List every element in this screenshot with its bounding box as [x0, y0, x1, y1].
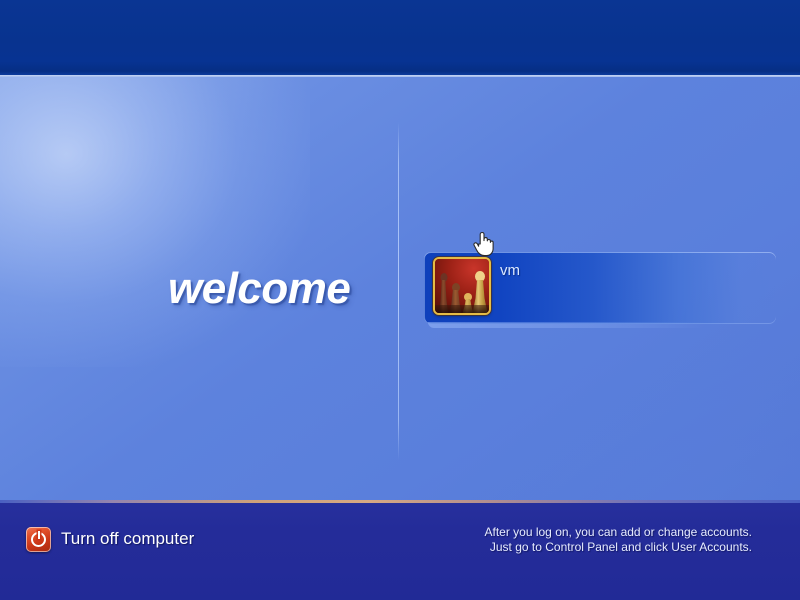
welcome-screen: welcome — [0, 0, 800, 600]
welcome-heading: welcome — [168, 264, 350, 314]
user-list: vm — [424, 252, 776, 324]
top-banner — [0, 0, 800, 75]
vertical-divider — [398, 122, 399, 460]
account-hint-text: After you log on, you can add or change … — [484, 525, 752, 555]
user-name-label: vm — [500, 262, 520, 279]
turn-off-computer-label: Turn off computer — [61, 529, 194, 549]
turn-off-computer-button[interactable]: Turn off computer — [26, 525, 194, 553]
account-hint-line-1: After you log on, you can add or change … — [484, 525, 752, 540]
chess-pieces-icon — [435, 259, 489, 313]
chess-board-base — [435, 305, 489, 313]
user-tile-vm[interactable]: vm — [424, 252, 776, 324]
user-picture-vm[interactable] — [433, 257, 491, 315]
background-glow — [0, 77, 310, 367]
power-icon — [26, 527, 51, 552]
account-hint-line-2: Just go to Control Panel and click User … — [484, 540, 752, 555]
background-sheen — [420, 320, 800, 500]
bottom-bar-accent-rail — [0, 500, 800, 503]
